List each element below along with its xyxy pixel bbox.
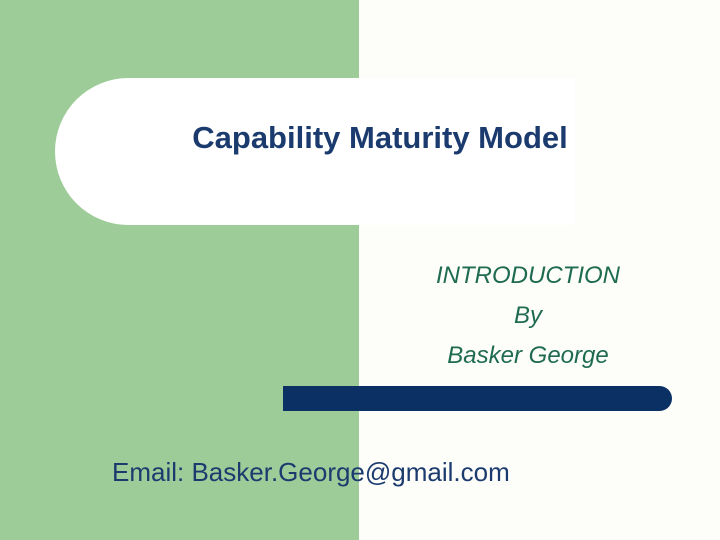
subtitle-line-by: By xyxy=(398,296,658,336)
presentation-slide: Capability Maturity Model INTRODUCTION B… xyxy=(0,0,720,540)
subtitle-block: INTRODUCTION By Basker George xyxy=(398,256,658,376)
subtitle-line-introduction: INTRODUCTION xyxy=(398,256,658,296)
slide-title-label: Capability Maturity Model xyxy=(192,120,567,155)
email-text: Email: Basker.George@gmail.com xyxy=(112,457,510,488)
subtitle-line-author: Basker George xyxy=(398,336,658,376)
navy-divider-bar xyxy=(283,386,672,411)
slide-title: Capability Maturity Model xyxy=(0,120,720,156)
